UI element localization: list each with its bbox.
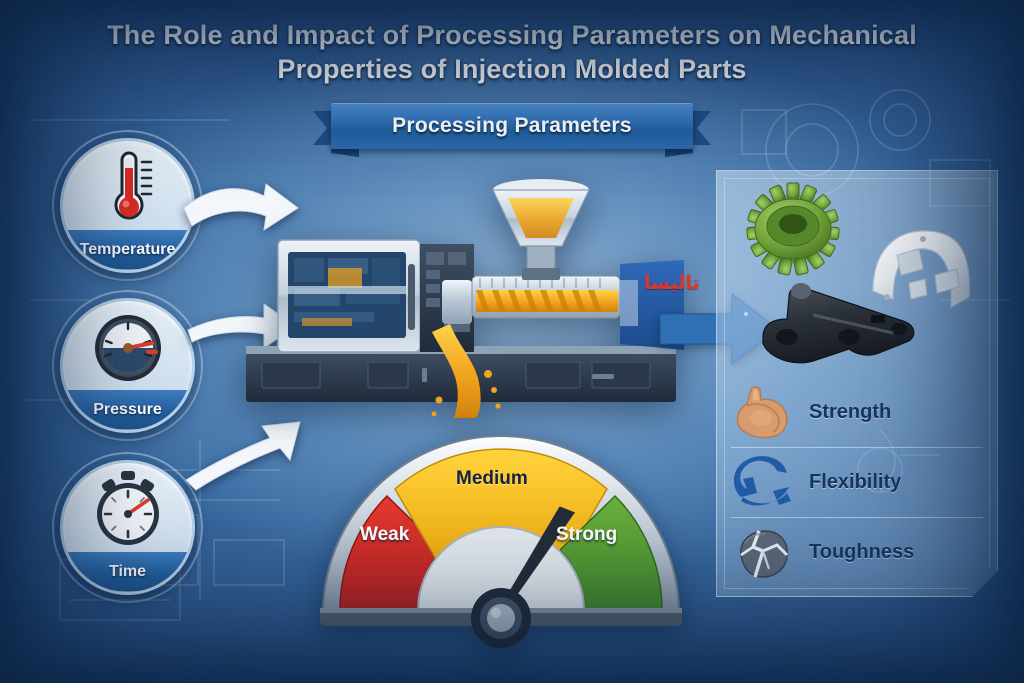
time-label-band: Time: [63, 552, 192, 592]
injection-molding-machine: [236, 168, 688, 418]
temperature-label-band: Temperature: [63, 230, 192, 270]
pressure-gauge-icon: [63, 307, 192, 389]
stopwatch-icon: [63, 469, 192, 551]
property-label-strength: Strength: [809, 401, 891, 424]
parameter-circle-temperature[interactable]: Temperature: [60, 138, 195, 273]
molded-parts-illustration: [717, 177, 999, 375]
green-gear-part: [747, 183, 840, 275]
property-label-toughness: Toughness: [809, 541, 914, 564]
title-line-1: The Role and Impact of Processing Parame…: [107, 20, 917, 50]
property-row-toughness[interactable]: Toughness: [731, 517, 983, 587]
curved-arrow-icon: [731, 453, 795, 513]
results-panel: Strength Flexibility: [716, 170, 998, 597]
parameter-label-pressure: Pressure: [93, 401, 162, 419]
thermometer-icon: [63, 147, 192, 229]
cracked-rock-icon: [731, 523, 795, 583]
property-row-flexibility[interactable]: Flexibility: [731, 447, 983, 517]
parameter-circle-time[interactable]: Time: [60, 460, 195, 595]
pressure-label-band: Pressure: [63, 390, 192, 430]
ribbon-label: Processing Parameters: [392, 114, 632, 138]
infographic-canvas: The Role and Impact of Processing Parame…: [0, 0, 1024, 683]
parameter-label-temperature: Temperature: [80, 241, 176, 259]
page-title: The Role and Impact of Processing Parame…: [0, 18, 1024, 86]
ribbon-body: Processing Parameters: [331, 103, 693, 149]
property-label-flexibility: Flexibility: [809, 471, 901, 494]
mechanical-strength-gauge: Weak Medium Strong: [318, 432, 684, 648]
mechanical-properties-list: Strength Flexibility: [731, 377, 983, 584]
parameter-label-time: Time: [109, 563, 146, 581]
property-row-strength[interactable]: Strength: [731, 377, 983, 447]
flexed-bicep-icon: [731, 382, 795, 442]
ribbon-banner: Processing Parameters: [313, 103, 711, 153]
parameter-circle-pressure[interactable]: Pressure: [60, 298, 195, 433]
white-housing-part: [873, 231, 969, 307]
arrow-time-to-machine: [182, 414, 304, 492]
title-line-2: Properties of Injection Molded Parts: [90, 52, 934, 86]
